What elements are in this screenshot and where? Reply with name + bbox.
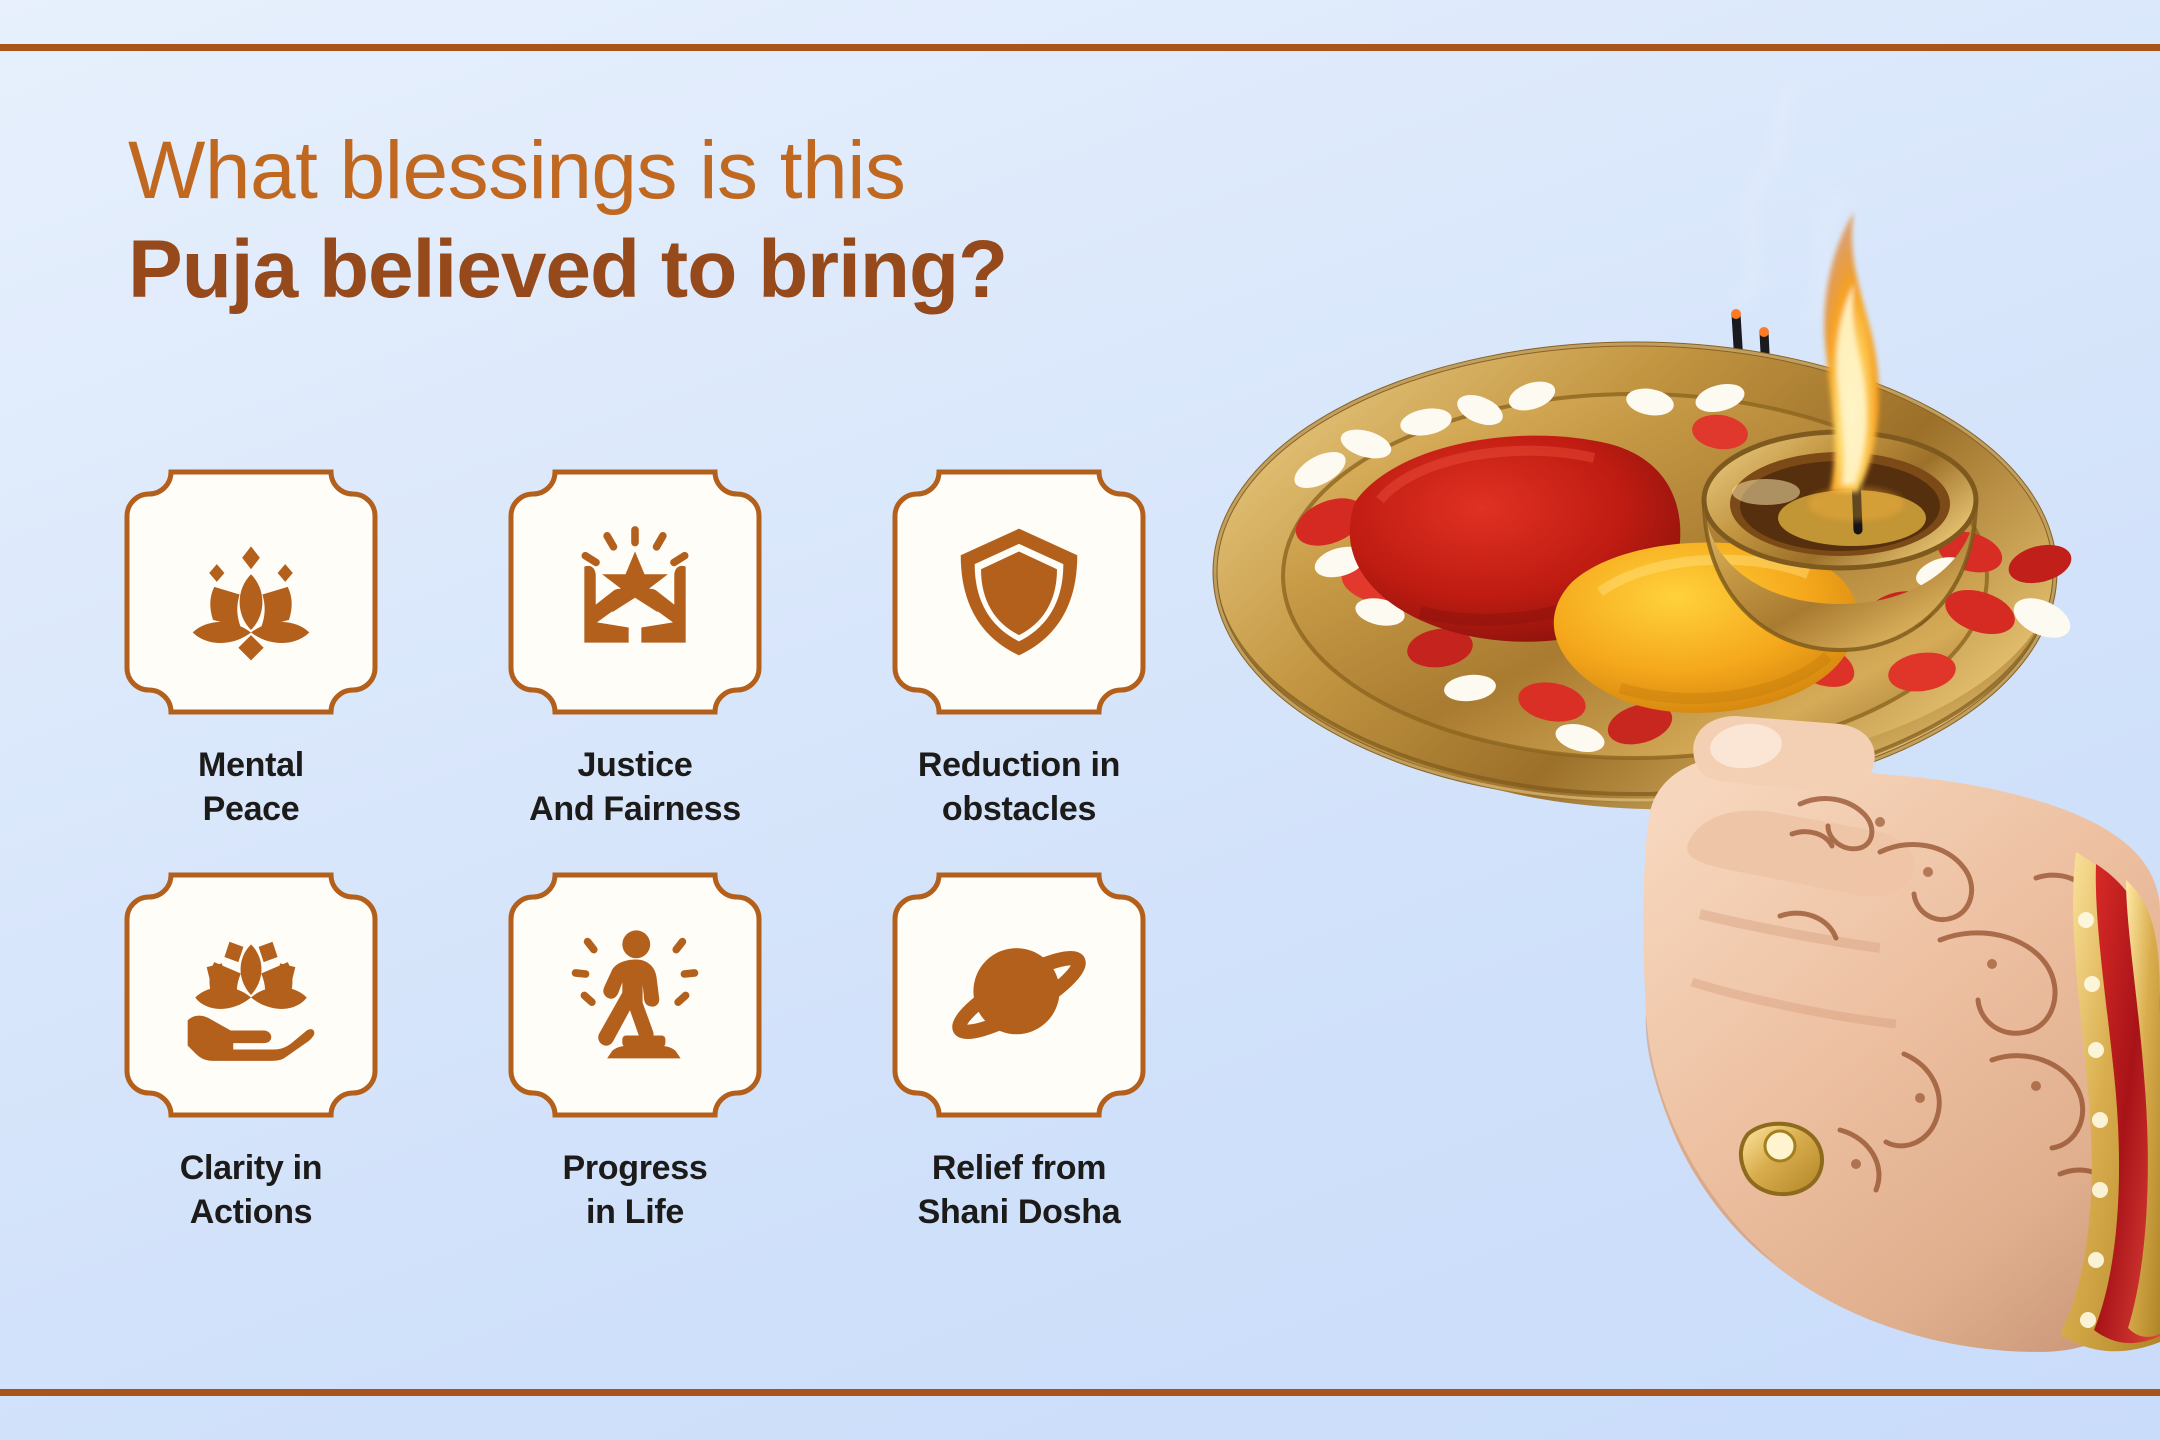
benefit-item-justice-and-fairness[interactable]: Justice And Fairness [496, 466, 774, 831]
benefit-label-line-1: Mental [198, 744, 304, 788]
benefit-label: Mental Peace [198, 744, 304, 831]
top-divider-rule [0, 44, 2160, 51]
benefit-item-progress-in-life[interactable]: Progress in Life [496, 869, 774, 1234]
benefit-label-line-2: in Life [562, 1191, 707, 1235]
benefit-label-line-1: Relief from [918, 1147, 1121, 1191]
benefit-item-clarity-in-actions[interactable]: Clarity in Actions [112, 869, 390, 1234]
benefit-label-line-2: obstacles [918, 788, 1120, 832]
lotus-icon [175, 516, 327, 668]
gold-ring [1741, 1124, 1822, 1194]
benefit-label: Reduction in obstacles [918, 744, 1120, 831]
puja-thali-photo [1180, 52, 2160, 1389]
hands-holding-star-icon [559, 516, 711, 668]
benefit-label-line-1: Reduction in [918, 744, 1120, 788]
saturn-planet-icon [943, 919, 1095, 1071]
benefit-card [506, 869, 764, 1121]
benefit-label-line-2: Peace [198, 788, 304, 832]
benefit-item-relief-from-shani-dosha[interactable]: Relief from Shani Dosha [880, 869, 1158, 1234]
benefit-item-reduction-in-obstacles[interactable]: Reduction in obstacles [880, 466, 1158, 831]
benefit-label: Relief from Shani Dosha [918, 1147, 1121, 1234]
benefit-label-line-2: Actions [180, 1191, 322, 1235]
benefit-label-line-2: Shani Dosha [918, 1191, 1121, 1235]
benefit-label-line-2: And Fairness [529, 788, 741, 832]
benefit-card [506, 466, 764, 718]
benefit-label: Clarity in Actions [180, 1147, 322, 1234]
benefit-label: Progress in Life [562, 1147, 707, 1234]
benefit-label-line-1: Justice [529, 744, 741, 788]
benefit-card [122, 869, 380, 1121]
shield-icon [943, 516, 1095, 668]
person-stepping-podium-icon [559, 919, 711, 1071]
benefit-card [890, 466, 1148, 718]
benefit-label-line-1: Clarity in [180, 1147, 322, 1191]
benefit-card [890, 869, 1148, 1121]
benefit-item-mental-peace[interactable]: Mental Peace [112, 466, 390, 831]
hand-holding-lotus-icon [175, 919, 327, 1071]
incense-smoke [1740, 86, 1840, 320]
benefits-grid: Mental Peace [112, 466, 1202, 1234]
benefit-label: Justice And Fairness [529, 744, 741, 831]
bottom-divider-rule [0, 1389, 2160, 1396]
benefit-label-line-1: Progress [562, 1147, 707, 1191]
poster-canvas: What blessings is this Puja believed to … [0, 0, 2160, 1440]
benefit-card [122, 466, 380, 718]
